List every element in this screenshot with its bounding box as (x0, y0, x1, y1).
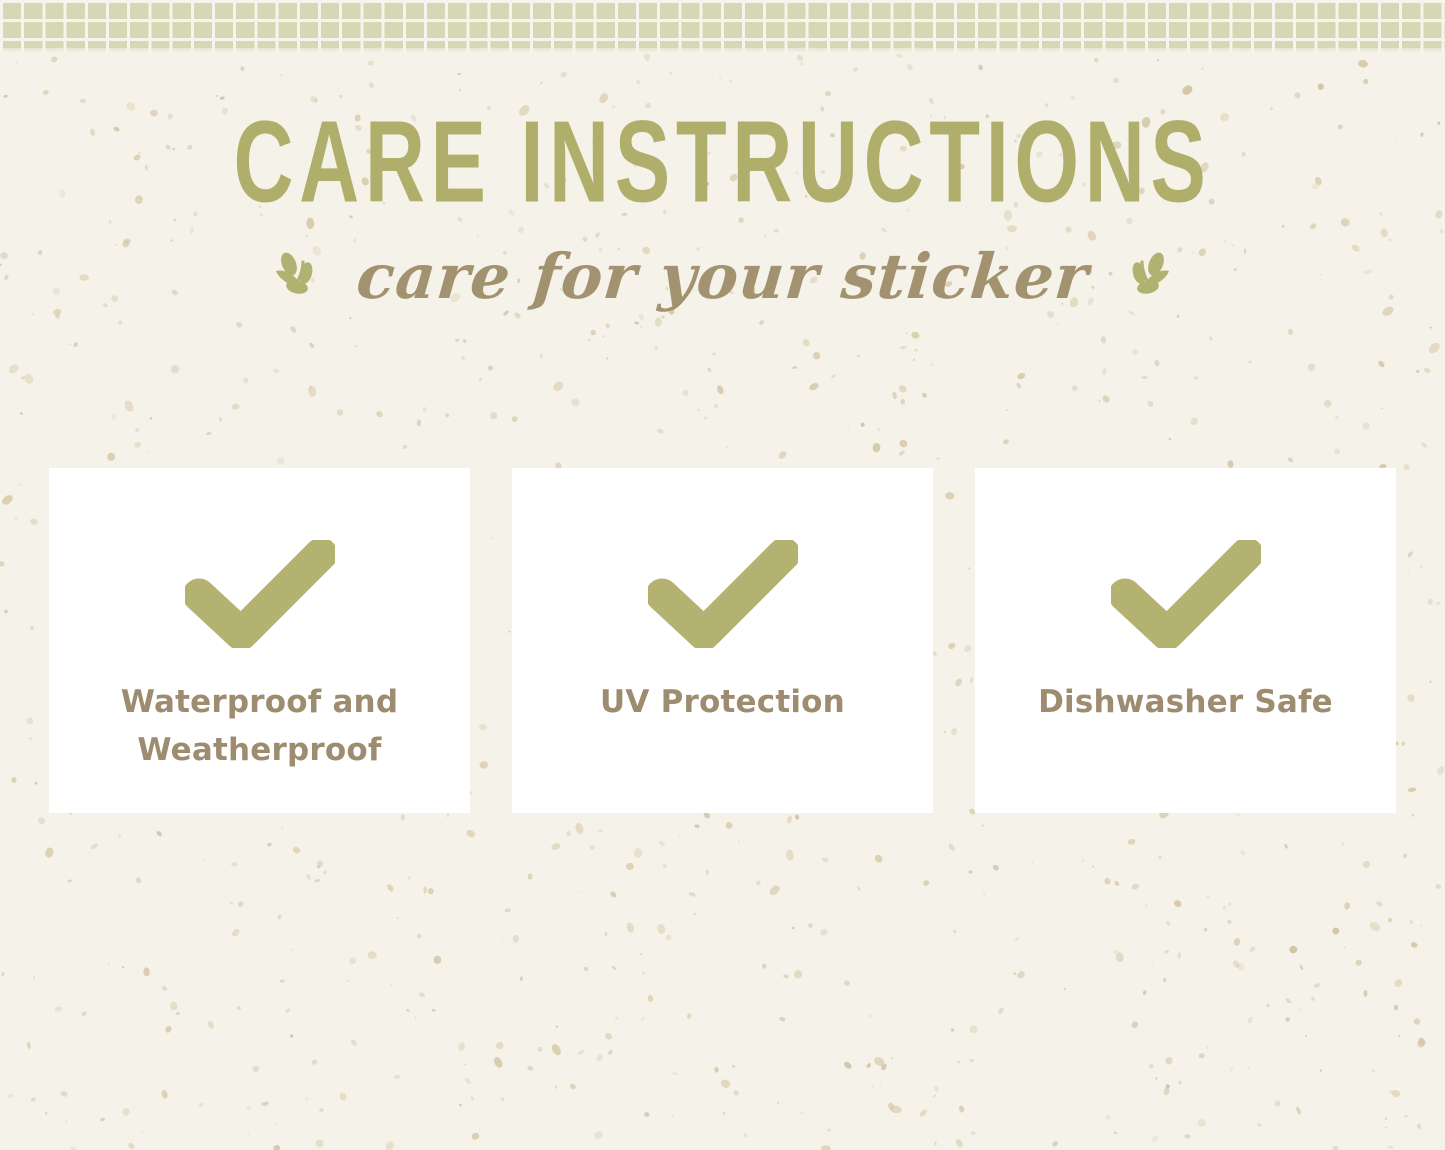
leaf-sprig-icon-left (267, 247, 323, 307)
checkmark-icon (185, 540, 335, 648)
feature-card-label: Waterproof and Weatherproof (121, 678, 398, 774)
feature-card-list: Waterproof and Weatherproof UV Protectio… (49, 468, 1396, 813)
leaf-sprig-icon-right (1122, 247, 1178, 307)
feature-card-dishwasher-safe: Dishwasher Safe (975, 468, 1396, 813)
page-title: CARE INSTRUCTIONS (145, 104, 1301, 220)
feature-card-label: Dishwasher Safe (1038, 678, 1333, 726)
page-subtitle: care for your sticker (354, 246, 1091, 308)
subtitle-row: care for your sticker (0, 232, 1445, 322)
checkered-border-fade (0, 48, 1445, 54)
feature-card-label: UV Protection (600, 678, 845, 726)
checkered-border (0, 0, 1445, 52)
checkmark-icon (1111, 540, 1261, 648)
feature-card-uv-protection: UV Protection (512, 468, 933, 813)
checkmark-icon (648, 540, 798, 648)
feature-card-waterproof: Waterproof and Weatherproof (49, 468, 470, 813)
